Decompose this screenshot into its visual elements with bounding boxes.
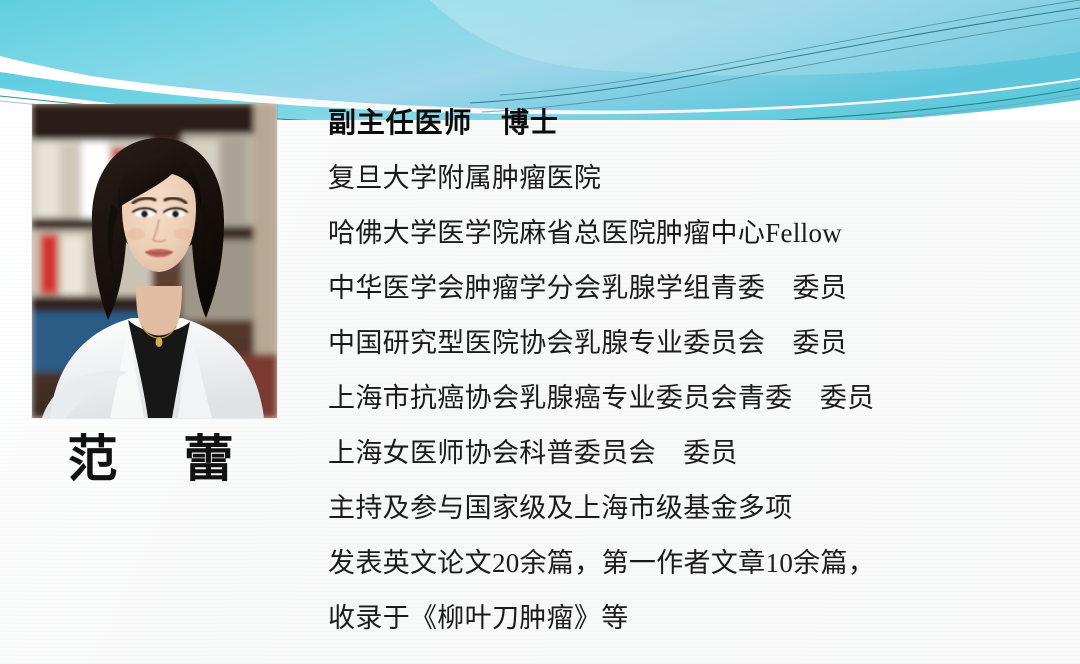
portrait-block: 范 蕾 bbox=[32, 104, 277, 487]
credential-line: 中华医学会肿瘤学分会乳腺学组青委 委员 bbox=[328, 261, 1028, 316]
credential-line: 上海市抗癌协会乳腺癌专业委员会青委 委员 bbox=[328, 371, 1028, 426]
portrait-name: 范 蕾 bbox=[32, 432, 277, 487]
wave-hairline-teal-2 bbox=[470, 8, 1080, 103]
credential-line: 收录于《柳叶刀肿瘤》等 bbox=[328, 591, 1028, 646]
slide-root: 范 蕾 副主任医师 博士 复旦大学附属肿瘤医院 哈佛大学医学院麻省总医院肿瘤中心… bbox=[0, 0, 1080, 664]
credential-line: 发表英文论文20余篇，第一作者文章10余篇， bbox=[328, 536, 1028, 591]
portrait-frame bbox=[32, 104, 277, 418]
wave-fill-primary bbox=[0, 0, 1080, 110]
credential-line: 主持及参与国家级及上海市级基金多项 bbox=[328, 481, 1028, 536]
credentials-heading: 副主任医师 博士 bbox=[328, 96, 1028, 151]
wave-hairline-teal-4 bbox=[500, 0, 1080, 95]
credentials-block: 副主任医师 博士 复旦大学附属肿瘤医院 哈佛大学医学院麻省总医院肿瘤中心Fell… bbox=[328, 96, 1028, 646]
credential-line: 上海女医师协会科普委员会 委员 bbox=[328, 426, 1028, 481]
credential-line: 复旦大学附属肿瘤医院 bbox=[328, 151, 1028, 206]
credential-line: 哈佛大学医学院麻省总医院肿瘤中心Fellow bbox=[328, 206, 1028, 261]
doctor-portrait-photo bbox=[32, 104, 277, 418]
credential-line: 中国研究型医院协会乳腺专业委员会 委员 bbox=[328, 316, 1028, 371]
wave-fill-pale bbox=[430, 0, 1080, 76]
